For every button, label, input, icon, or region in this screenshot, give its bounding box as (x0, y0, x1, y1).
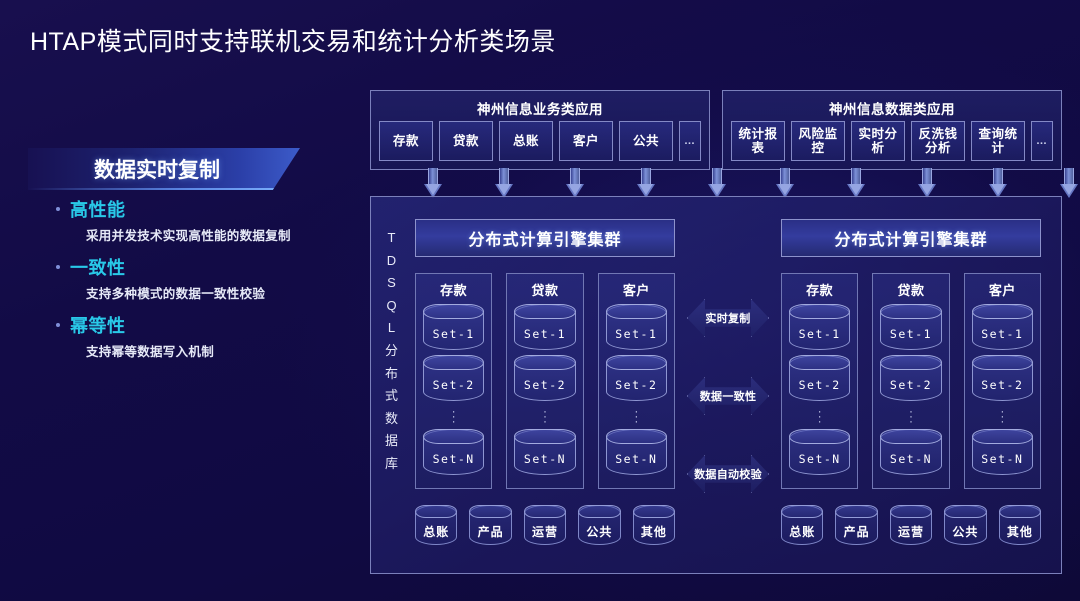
set-cylinder[interactable]: Set-N (514, 429, 575, 475)
app-cell-public[interactable]: 公共 (619, 121, 673, 161)
set-cylinder[interactable]: Set-1 (972, 304, 1033, 350)
set-label: Set-N (424, 452, 483, 466)
vertical-ellipsis-icon: ··· (514, 406, 575, 429)
slide-root: HTAP模式同时支持联机交易和统计分析类场景 数据实时复制 高性能 采用并发技术… (0, 0, 1080, 601)
bullet-dot-icon (56, 265, 60, 269)
arrow-down-icon (708, 168, 726, 198)
set-label: Set-1 (515, 327, 574, 341)
vlabel-char: 布 (379, 363, 405, 386)
vlabel-char: D (379, 250, 405, 273)
feature-title: 高性能 (70, 196, 126, 222)
set-cylinder[interactable]: Set-N (423, 429, 484, 475)
arrow-down-icon (495, 168, 513, 198)
app-cell-ledger[interactable]: 总账 (499, 121, 553, 161)
set-cylinder[interactable]: Set-2 (423, 355, 484, 401)
bullet-dot-icon (56, 323, 60, 327)
arrow-down-icon (989, 168, 1007, 198)
mini-cylinder-public[interactable]: 公共 (578, 505, 620, 545)
mini-cylinder-label: 公共 (579, 523, 619, 540)
mini-cylinder-other[interactable]: 其他 (633, 505, 675, 545)
set-label: Set-N (790, 452, 849, 466)
set-cylinder[interactable]: Set-2 (880, 355, 941, 401)
mini-cylinder-label: 其他 (1000, 523, 1040, 540)
mini-cylinder-operation[interactable]: 运营 (524, 505, 566, 545)
arrow-down-icon (918, 168, 936, 198)
set-columns-right: 存款 Set-1 Set-2 ··· Set-N 贷款 Set-1 Set-2 … (781, 273, 1041, 489)
app-cell-more[interactable]: … (679, 121, 701, 161)
app-cell-more[interactable]: … (1031, 121, 1053, 161)
set-label: Set-2 (973, 378, 1032, 392)
vlabel-char: T (379, 227, 405, 250)
app-cell-realtime-analysis[interactable]: 实时分析 (851, 121, 905, 161)
set-cylinder[interactable]: Set-2 (789, 355, 850, 401)
arrow-down-icon (847, 168, 865, 198)
vertical-ellipsis-icon: ··· (606, 406, 667, 429)
vertical-ellipsis-icon: ··· (423, 406, 484, 429)
vertical-ellipsis-icon: ··· (789, 406, 850, 429)
business-app-panel: 神州信息业务类应用 存款 贷款 总账 客户 公共 … (370, 90, 710, 170)
section-ribbon: 数据实时复制 (28, 148, 300, 190)
mini-cylinder-product[interactable]: 产品 (469, 505, 511, 545)
bullet-heading: 高性能 (52, 196, 352, 222)
set-column-title: 存款 (789, 280, 850, 299)
mini-cylinder-operation[interactable]: 运营 (890, 505, 932, 545)
arrow-down-icon (637, 168, 655, 198)
mini-cylinder-label: 产品 (836, 523, 876, 540)
mini-cylinder-public[interactable]: 公共 (944, 505, 986, 545)
set-column-title: 贷款 (880, 280, 941, 299)
set-label: Set-N (881, 452, 940, 466)
app-cell-query-statistics[interactable]: 查询统计 (971, 121, 1025, 161)
set-label: Set-2 (607, 378, 666, 392)
set-label: Set-1 (790, 327, 849, 341)
set-cylinder[interactable]: Set-1 (514, 304, 575, 350)
set-column-loan: 贷款 Set-1 Set-2 ··· Set-N (506, 273, 583, 489)
ribbon-title: 数据实时复制 (94, 154, 220, 184)
vertical-ellipsis-icon: ··· (972, 406, 1033, 429)
vlabel-char: 分 (379, 340, 405, 363)
arrow-down-icon (1060, 168, 1078, 198)
mini-cylinder-label: 产品 (470, 523, 510, 540)
vlabel-char: 据 (379, 430, 405, 453)
set-column-title: 客户 (606, 280, 667, 299)
set-label: Set-2 (424, 378, 483, 392)
set-label: Set-N (515, 452, 574, 466)
set-column-customer: 客户 Set-1 Set-2 ··· Set-N (964, 273, 1041, 489)
set-cylinder[interactable]: Set-2 (514, 355, 575, 401)
feature-title: 幂等性 (70, 312, 126, 338)
bottom-cylinders-left: 总账 产品 运营 公共 其他 (415, 505, 675, 545)
compute-engine-cluster-left[interactable]: 分布式计算引擎集群 (415, 219, 675, 257)
tdsql-vertical-label: T D S Q L 分 布 式 数 据 库 (379, 227, 405, 476)
set-column-deposit: 存款 Set-1 Set-2 ··· Set-N (781, 273, 858, 489)
set-cylinder[interactable]: Set-1 (423, 304, 484, 350)
arrow-down-icon (776, 168, 794, 198)
vlabel-char: L (379, 317, 405, 340)
app-cell-loan[interactable]: 贷款 (439, 121, 493, 161)
bi-arrow-label: 实时复制 (687, 310, 769, 326)
arrow-down-icon (424, 168, 442, 198)
mini-cylinder-label: 运营 (525, 523, 565, 540)
set-column-title: 存款 (423, 280, 484, 299)
list-item: 高性能 采用并发技术实现高性能的数据复制 (52, 196, 352, 244)
mini-cylinder-ledger[interactable]: 总账 (415, 505, 457, 545)
app-cell-deposit[interactable]: 存款 (379, 121, 433, 161)
set-cylinder[interactable]: Set-1 (606, 304, 667, 350)
set-column-title: 客户 (972, 280, 1033, 299)
arrow-down-icon (566, 168, 584, 198)
vlabel-char: S (379, 272, 405, 295)
set-cylinder[interactable]: Set-2 (606, 355, 667, 401)
tdsql-main-panel: T D S Q L 分 布 式 数 据 库 分布式计算引擎集群 存款 Set-1… (370, 196, 1062, 574)
set-cylinder[interactable]: Set-N (880, 429, 941, 475)
bi-arrow-data-consistency: 数据一致性 (687, 377, 769, 415)
set-column-deposit: 存款 Set-1 Set-2 ··· Set-N (415, 273, 492, 489)
feature-title: 一致性 (70, 254, 126, 280)
mini-cylinder-label: 其他 (634, 523, 674, 540)
bullet-heading: 一致性 (52, 254, 352, 280)
business-flow-arrows (424, 168, 726, 198)
set-cylinder[interactable]: Set-1 (789, 304, 850, 350)
set-label: Set-1 (607, 327, 666, 341)
mini-cylinder-other[interactable]: 其他 (999, 505, 1041, 545)
bullet-heading: 幂等性 (52, 312, 352, 338)
bottom-cylinders-right: 总账 产品 运营 公共 其他 (781, 505, 1041, 545)
bi-arrow-label: 数据一致性 (687, 388, 769, 404)
app-cell-customer[interactable]: 客户 (559, 121, 613, 161)
set-cylinder[interactable]: Set-2 (972, 355, 1033, 401)
mini-cylinder-label: 总账 (416, 523, 456, 540)
set-cylinder[interactable]: Set-N (972, 429, 1033, 475)
feature-description: 支持多种模式的数据一致性校验 (86, 283, 352, 302)
vlabel-char: Q (379, 295, 405, 318)
list-item: 幂等性 支持幂等数据写入机制 (52, 312, 352, 360)
feature-description: 采用并发技术实现高性能的数据复制 (86, 225, 352, 244)
set-cylinder[interactable]: Set-1 (880, 304, 941, 350)
business-app-row: 存款 贷款 总账 客户 公共 … (379, 121, 701, 161)
set-label: Set-2 (790, 378, 849, 392)
set-label: Set-2 (881, 378, 940, 392)
feature-description: 支持幂等数据写入机制 (86, 341, 352, 360)
vlabel-char: 数 (379, 408, 405, 431)
set-label: Set-2 (515, 378, 574, 392)
set-column-title: 贷款 (514, 280, 575, 299)
app-cell-anti-money-laundering[interactable]: 反洗钱分析 (911, 121, 965, 161)
cluster-right: 分布式计算引擎集群 存款 Set-1 Set-2 ··· Set-N 贷款 Se… (781, 219, 1041, 545)
mini-cylinder-label: 总账 (782, 523, 822, 540)
bi-arrow-realtime-replication: 实时复制 (687, 299, 769, 337)
data-app-panel-title: 神州信息数据类应用 (723, 98, 1061, 118)
mini-cylinder-label: 公共 (945, 523, 985, 540)
set-label: Set-1 (881, 327, 940, 341)
mini-cylinder-product[interactable]: 产品 (835, 505, 877, 545)
set-label: Set-N (607, 452, 666, 466)
mini-cylinder-ledger[interactable]: 总账 (781, 505, 823, 545)
app-cell-risk-monitor[interactable]: 风险监控 (791, 121, 845, 161)
page-title: HTAP模式同时支持联机交易和统计分析类场景 (30, 22, 556, 58)
app-cell-statistic-report[interactable]: 统计报表 (731, 121, 785, 161)
vertical-ellipsis-icon: ··· (880, 406, 941, 429)
cluster-left: 分布式计算引擎集群 存款 Set-1 Set-2 ··· Set-N 贷款 Se… (415, 219, 675, 545)
set-column-customer: 客户 Set-1 Set-2 ··· Set-N (598, 273, 675, 489)
data-app-row: 统计报表 风险监控 实时分析 反洗钱分析 查询统计 … (731, 121, 1053, 161)
vlabel-char: 库 (379, 453, 405, 476)
set-cylinder[interactable]: Set-N (789, 429, 850, 475)
vlabel-char: 式 (379, 385, 405, 408)
set-cylinder[interactable]: Set-N (606, 429, 667, 475)
data-flow-arrows (776, 168, 1078, 198)
bi-arrow-auto-verification: 数据自动校验 (687, 455, 769, 493)
set-label: Set-1 (424, 327, 483, 341)
business-app-panel-title: 神州信息业务类应用 (371, 98, 709, 118)
set-label: Set-1 (973, 327, 1032, 341)
mini-cylinder-label: 运营 (891, 523, 931, 540)
set-columns-left: 存款 Set-1 Set-2 ··· Set-N 贷款 Set-1 Set-2 … (415, 273, 675, 489)
data-app-panel: 神州信息数据类应用 统计报表 风险监控 实时分析 反洗钱分析 查询统计 … (722, 90, 1062, 170)
bullet-dot-icon (56, 207, 60, 211)
set-column-loan: 贷款 Set-1 Set-2 ··· Set-N (872, 273, 949, 489)
bi-arrow-label: 数据自动校验 (687, 466, 769, 482)
list-item: 一致性 支持多种模式的数据一致性校验 (52, 254, 352, 302)
set-label: Set-N (973, 452, 1032, 466)
compute-engine-cluster-right[interactable]: 分布式计算引擎集群 (781, 219, 1041, 257)
feature-list: 高性能 采用并发技术实现高性能的数据复制 一致性 支持多种模式的数据一致性校验 … (52, 196, 352, 370)
